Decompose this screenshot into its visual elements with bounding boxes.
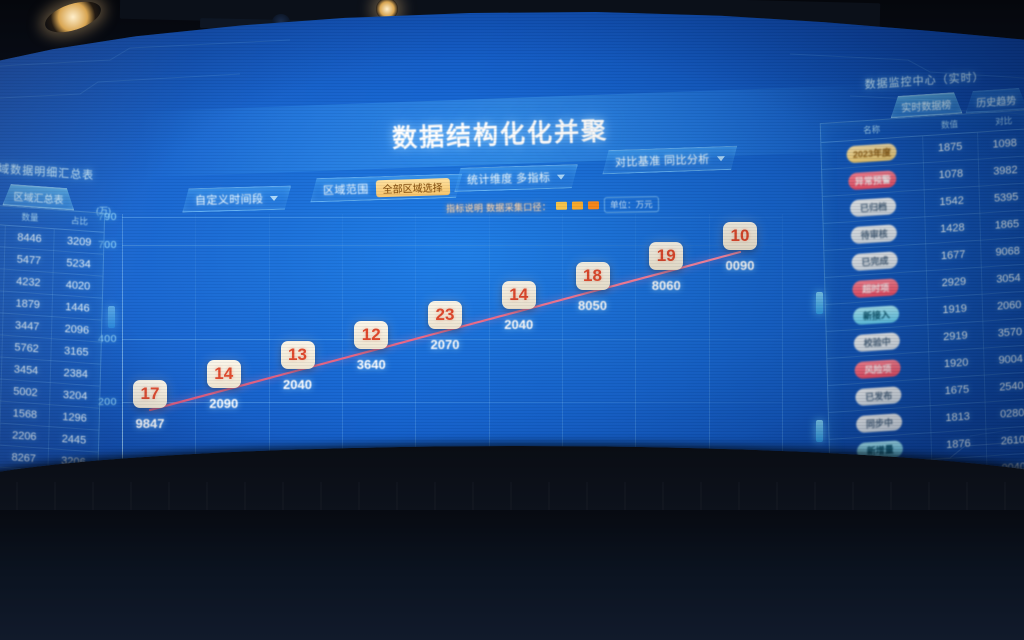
filter-chip-label: 区域范围 <box>323 181 369 198</box>
table-cell-value: 1876 <box>931 429 986 460</box>
chart-point-sublabel: 9847 <box>136 416 165 431</box>
status-badge: 同步中 <box>856 413 902 433</box>
page-title-text: 数据结构化化并聚 <box>391 111 608 155</box>
status-badge: 新接入 <box>853 305 899 325</box>
filter-chip-label: 自定义时间段 <box>195 190 264 208</box>
chart-point-value: 17 <box>141 384 160 404</box>
screenshot-root: 数据结构化化并聚 自定义时间段 区域范围 全部区域选择 统计维度 多指标 对比基… <box>0 0 1024 640</box>
panel-edge-glow <box>816 292 823 314</box>
table-cell-value: 1428 <box>925 213 980 244</box>
chevron-down-icon <box>270 195 278 200</box>
chart-point-label[interactable]: 12 <box>354 321 388 349</box>
status-badge: 待审核 <box>851 224 897 244</box>
chart-point-sublabel: 3640 <box>357 357 386 372</box>
table-cell-value: 1813 <box>930 402 985 433</box>
status-badge: 超时项 <box>853 278 899 298</box>
right-data-panel: 数据监控中心（实时） 实时数据榜 历史趋势 名称数值对比 2023年度18751… <box>818 64 1024 495</box>
status-badge: 已归档 <box>850 197 896 217</box>
chart-point-value: 18 <box>583 266 602 286</box>
table-cell-compare: 1098 <box>977 129 1024 160</box>
panel-edge-glow <box>816 420 823 442</box>
table-cell-value: 1875 <box>922 132 977 163</box>
left-panel-title-row: 区域数据明细汇总表 <box>0 158 106 185</box>
chart-point-sublabel: 8050 <box>578 298 607 313</box>
chart-point-sublabel: 2090 <box>209 396 238 411</box>
legend-swatch <box>588 201 599 209</box>
chart-point-sublabel: 8060 <box>652 278 681 293</box>
chart-point-value: 14 <box>214 364 233 384</box>
table-cell-value: 1078 <box>923 159 978 190</box>
table-cell-compare: 5395 <box>979 183 1024 214</box>
right-table-body: 2023年度18751098异常预警10783982已归档15425395待审核… <box>821 129 1024 494</box>
table-cell-value: 2919 <box>928 321 983 352</box>
status-badge: 校验中 <box>854 332 900 352</box>
chart-point-label[interactable]: 13 <box>281 341 315 369</box>
status-badge: 异常预警 <box>849 170 897 190</box>
chart-point-label[interactable]: 14 <box>207 360 241 388</box>
chart-point-value: 12 <box>362 325 381 345</box>
chart-point-value: 19 <box>657 246 676 266</box>
status-badge: 已发布 <box>856 386 902 406</box>
chart-point-label[interactable]: 17 <box>133 380 167 408</box>
table-cell-value: 1677 <box>925 240 980 271</box>
chart-point-value: 13 <box>288 345 307 365</box>
chart-point-label[interactable]: 14 <box>502 281 536 309</box>
filter-chip-label: 统计维度 多指标 <box>467 169 551 188</box>
status-badge: 已完成 <box>852 251 898 271</box>
table-cell-compare: 3570 <box>982 318 1024 349</box>
table-cell-compare: 1865 <box>979 210 1024 241</box>
legend-swatch <box>556 202 567 210</box>
legend-unit-chip: 单位：万元 <box>604 196 659 213</box>
floor <box>0 510 1024 640</box>
chart-point-sublabel: 2070 <box>431 337 460 352</box>
chart-point-label[interactable]: 23 <box>428 301 462 329</box>
right-panel-body: 名称数值对比 2023年度18751098异常预警10783982已归档1542… <box>820 109 1024 495</box>
chart-point-sublabel: 2040 <box>283 377 312 392</box>
table-cell-compare: 9004 <box>983 345 1024 376</box>
table-cell-value: 1919 <box>927 294 982 325</box>
chart-legend: 指标说明 数据采集口径： 单位：万元 <box>446 196 659 216</box>
chart-point-value: 14 <box>509 285 528 305</box>
table-cell-value: 1542 <box>924 186 979 217</box>
filter-chip-dimension[interactable]: 统计维度 多指标 <box>454 164 579 192</box>
chart-point-label[interactable]: 10 <box>723 222 757 250</box>
table-cell-value: 1675 <box>929 375 984 406</box>
chevron-down-icon <box>557 174 565 179</box>
chart-point-sublabel: 2040 <box>504 317 533 332</box>
chevron-down-icon <box>717 156 725 161</box>
table-cell-compare: 3054 <box>981 264 1024 295</box>
right-data-table: 名称数值对比 2023年度18751098异常预警10783982已归档1542… <box>821 110 1024 494</box>
status-badge: 风险项 <box>855 359 901 379</box>
y-tick-label: 200 <box>98 396 117 408</box>
table-cell-compare: 9068 <box>980 237 1024 268</box>
chart-point-label[interactable]: 19 <box>649 242 683 270</box>
chart-point-sublabel: 0090 <box>726 258 755 273</box>
table-cell-compare: 2060 <box>982 291 1024 322</box>
filter-chip-region[interactable]: 区域范围 全部区域选择 <box>310 174 463 203</box>
panel-edge-glow <box>108 306 115 328</box>
right-tab-history[interactable]: 历史趋势 <box>965 87 1024 113</box>
chart-point-value: 10 <box>731 226 750 246</box>
status-badge: 2023年度 <box>847 143 897 163</box>
table-cell-value: 1920 <box>928 348 983 379</box>
table-cell-value: 2929 <box>926 267 981 298</box>
table-cell-compare: 3982 <box>978 156 1024 187</box>
legend-swatch <box>572 201 583 209</box>
table-cell-compare: 2540 <box>984 372 1024 403</box>
filter-chip-label: 对比基准 同比分析 <box>615 151 710 170</box>
ceiling-spotlight <box>41 0 104 38</box>
filter-chip-baseline[interactable]: 对比基准 同比分析 <box>602 146 738 175</box>
filter-chip-time-range[interactable]: 自定义时间段 <box>182 185 292 212</box>
legend-label: 指标说明 数据采集口径： <box>446 200 551 215</box>
chart-gridline-vertical <box>782 214 783 464</box>
line-chart: (万) (时) 17984714209013204012364023207014… <box>122 214 782 464</box>
right-panel-title: 数据监控中心（实时） <box>865 71 985 91</box>
chart-point-label[interactable]: 18 <box>576 262 610 290</box>
chart-point-value: 23 <box>436 305 455 325</box>
left-panel-title: 区域数据明细汇总表 <box>0 162 94 182</box>
table-cell-compare: 0280 <box>985 399 1024 430</box>
table-cell-compare: 2610 <box>985 426 1024 457</box>
filter-chip-highlight: 全部区域选择 <box>375 178 449 197</box>
